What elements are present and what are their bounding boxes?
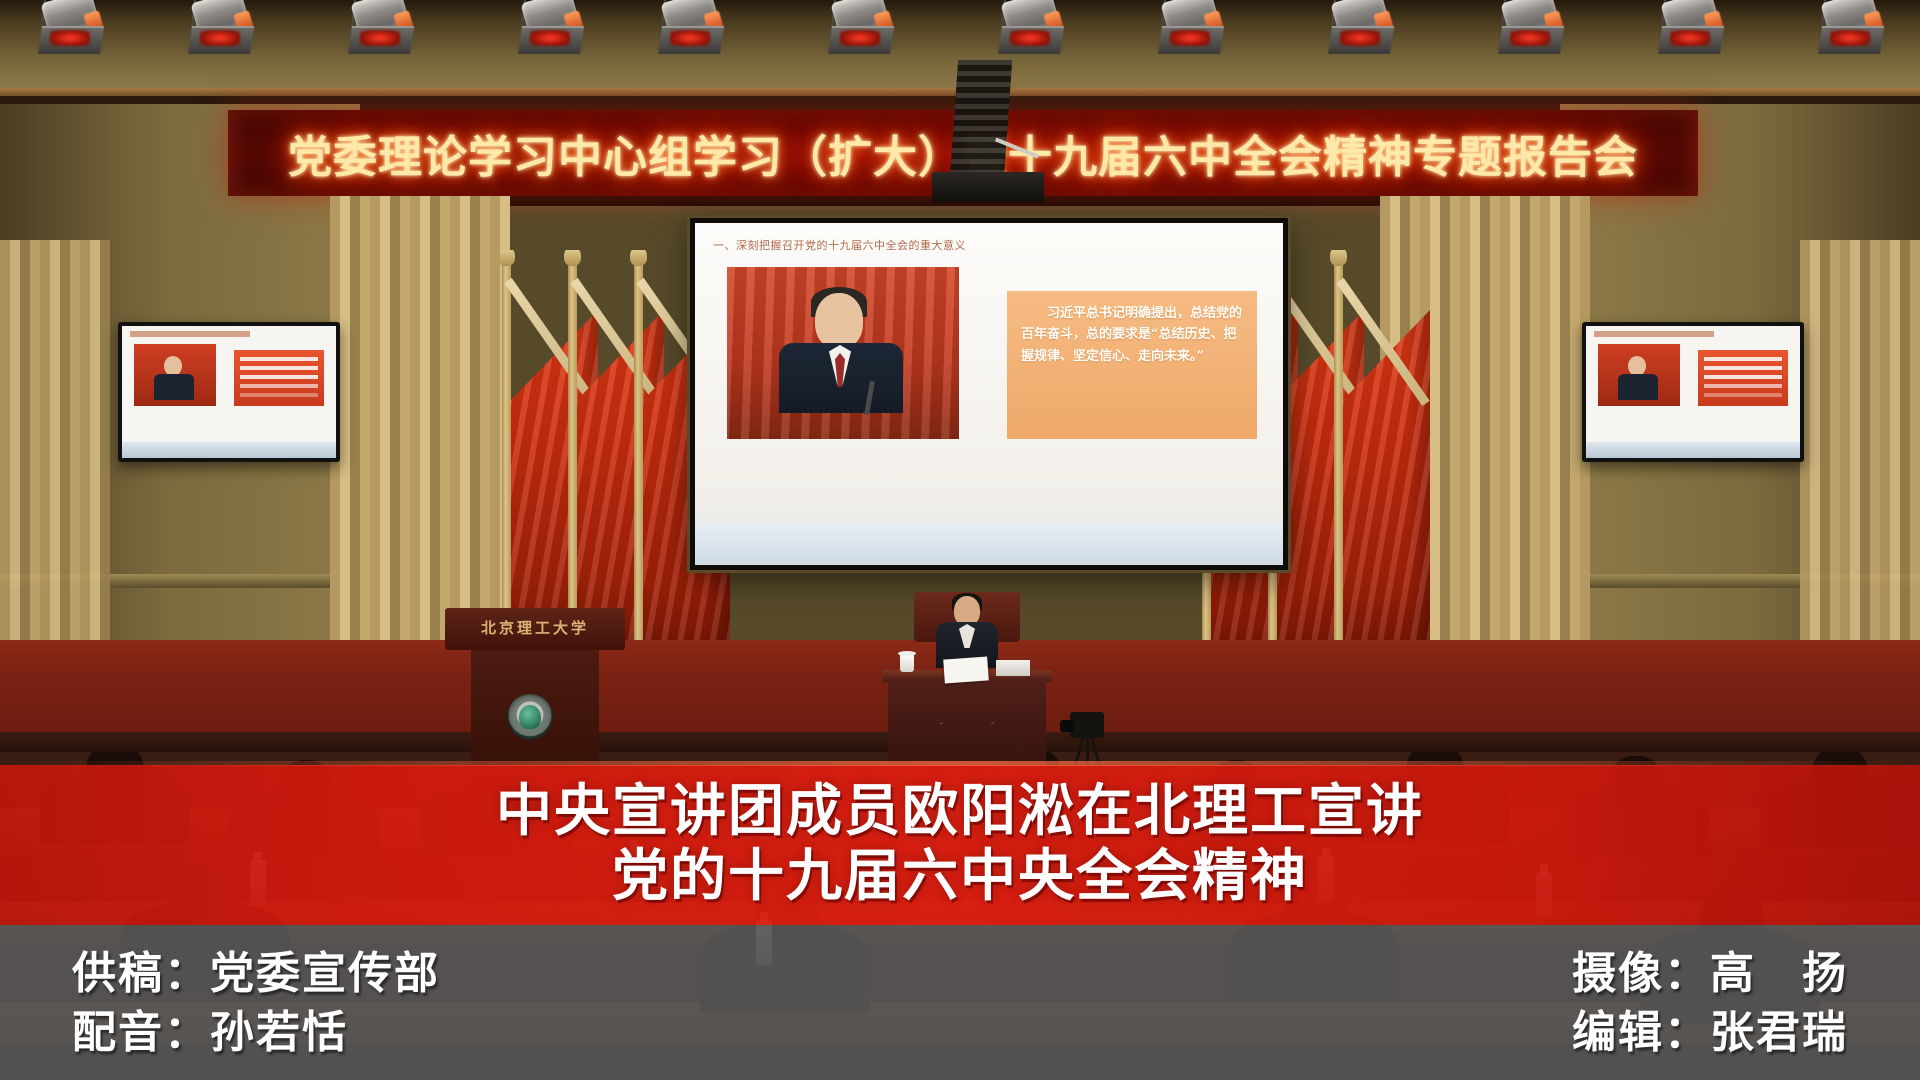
credits-left: 供稿：党委宣传部 配音：孙若恬: [72, 946, 440, 1060]
projection-screen: 一、深刻把握召开党的十九届六中全会的重大意义 习近平总书记明确提出，总结党的百年…: [690, 218, 1288, 570]
stage-light-icon: [520, 0, 598, 56]
credit-editor: 编辑：张君瑞: [1572, 1005, 1848, 1060]
credits-bar: 供稿：党委宣传部 配音：孙若恬 摄像：高 扬 编辑：张君瑞: [0, 925, 1920, 1080]
lower-third-caption: 中央宣讲团成员欧阳淞在北理工宣讲 党的十九届六中央全会精神: [0, 765, 1920, 925]
caption-line-2: 党的十九届六中央全会精神: [612, 845, 1308, 910]
podium-institution-label: 北京理工大学: [445, 617, 625, 638]
teacup: [900, 654, 914, 672]
flag-pole: [634, 260, 643, 650]
speaker-desk: [888, 648, 1046, 776]
slide-quote-box: 习近平总书记明确提出，总结党的百年奋斗，总的要求是“总结历史、把握规律、坚定信心…: [1007, 291, 1257, 439]
stage-light-icon: [350, 0, 428, 56]
flag-pole: [568, 260, 577, 650]
stage-light-icon: [1330, 0, 1408, 56]
stage-light-icon: [1500, 0, 1578, 56]
stage-light-icon: [660, 0, 738, 56]
university-emblem-icon: [507, 694, 553, 740]
stage-light-icon: [1820, 0, 1898, 56]
desk-nameplate: [996, 660, 1030, 676]
credit-contributor: 供稿：党委宣传部: [72, 946, 440, 1001]
slide-quote-text: 习近平总书记明确提出，总结党的百年奋斗，总的要求是“总结历史、把握规律、坚定信心…: [1021, 303, 1243, 367]
curtain-gold-far-right: [1800, 240, 1920, 640]
credit-voiceover: 配音：孙若恬: [72, 1005, 440, 1060]
curtain-gold-left: [330, 196, 510, 666]
credits-right: 摄像：高 扬 编辑：张君瑞: [1572, 946, 1848, 1060]
video-frame: 党委理论学习中心组学习（扩大）暨十九届六中全会精神专题报告会: [0, 0, 1920, 1080]
slide-heading: 一、深刻把握召开党的十九届六中全会的重大意义: [713, 237, 1269, 253]
slide-photo: [727, 267, 959, 439]
flag-pole: [502, 260, 511, 650]
caption-line-1: 中央宣讲团成员欧阳淞在北理工宣讲: [496, 780, 1424, 845]
stage-light-icon: [830, 0, 908, 56]
curtain-gold-far-left: [0, 240, 110, 640]
side-monitor-right: [1582, 322, 1804, 462]
credit-camera: 摄像：高 扬: [1572, 946, 1848, 1001]
stage-light-icon: [1160, 0, 1238, 56]
side-monitor-left: [118, 322, 340, 462]
speech-papers: [943, 656, 989, 683]
stage-light-icon: [40, 0, 118, 56]
stage-light-icon: [1660, 0, 1738, 56]
stage-light-icon: [190, 0, 268, 56]
slide-footer: [695, 523, 1283, 565]
projector-rig: [930, 60, 1050, 210]
stage-light-icon: [1000, 0, 1078, 56]
flag-pole: [1334, 260, 1343, 650]
podium: 北京理工大学: [445, 608, 625, 773]
